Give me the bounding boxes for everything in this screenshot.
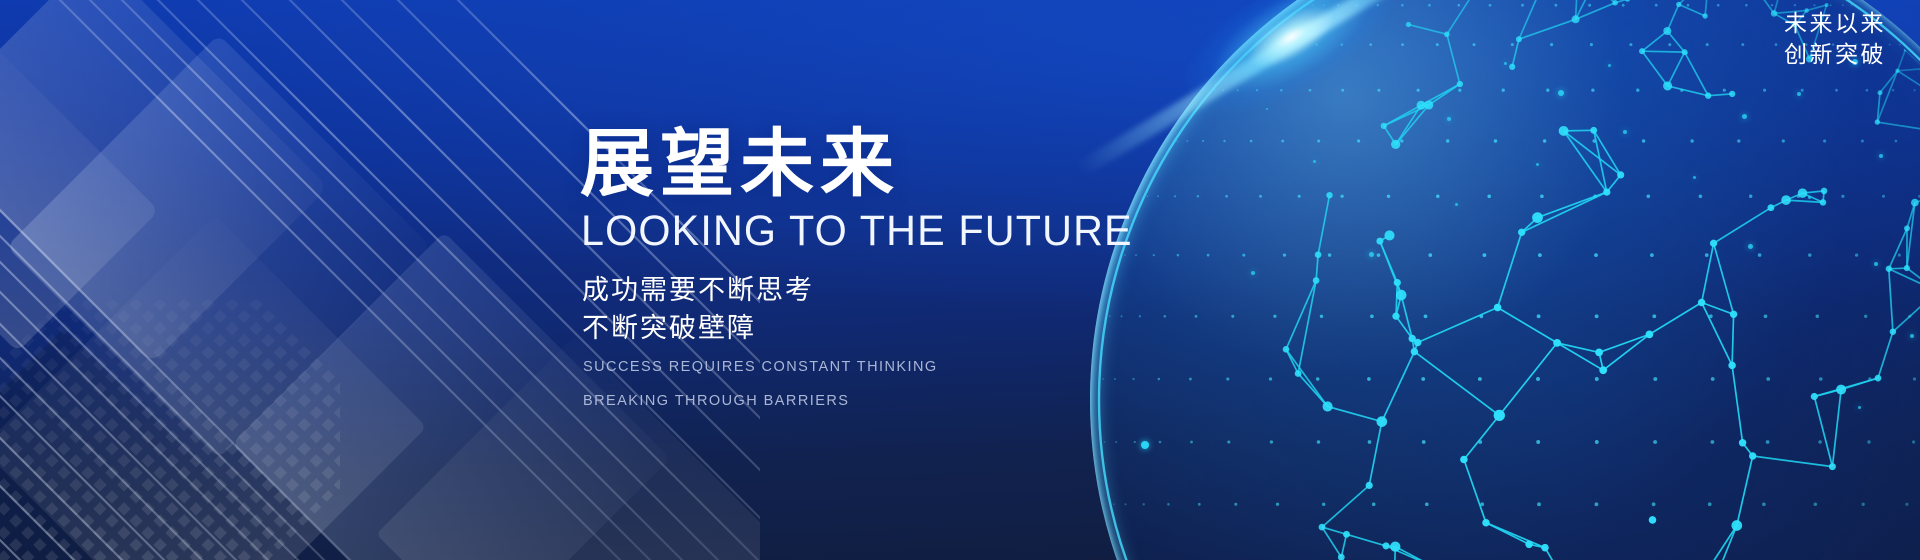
corner-slogan: 未来以来 创新突破	[1784, 8, 1886, 71]
page-title-cn: 展望未来	[580, 126, 1218, 203]
subtitle-cn-line2: 不断突破壁障	[582, 309, 1218, 347]
particle-dot	[1808, 196, 1811, 199]
subtitle-en-line1: SUCCESS REQUIRES CONSTANT THINKING	[583, 355, 1218, 381]
corner-slogan-line2: 创新突破	[1784, 39, 1886, 70]
particle-dot	[1447, 117, 1451, 121]
particle-dot	[1623, 130, 1627, 134]
particle-dot	[1455, 203, 1458, 206]
particle-dot	[1558, 90, 1564, 96]
hero-banner: 展望未来 LOOKING TO THE FUTURE 成功需要不断思考 不断突破…	[0, 0, 1920, 560]
particle-dot	[1369, 252, 1374, 257]
particle-dot	[1874, 262, 1878, 266]
particle-dot	[1858, 406, 1861, 409]
particle-dot	[1910, 334, 1914, 338]
particle-dot	[1141, 441, 1149, 449]
checkered-dot-grid	[0, 300, 340, 560]
subtitle-cn-line1: 成功需要不断思考	[582, 271, 1218, 309]
particle-dot	[1742, 114, 1747, 119]
particle-dot	[1504, 62, 1507, 65]
particle-dot	[1693, 176, 1696, 179]
particle-dot	[1266, 108, 1268, 110]
headline-block: 展望未来 LOOKING TO THE FUTURE 成功需要不断思考 不断突破…	[578, 126, 1218, 415]
particle-dot	[1608, 64, 1611, 67]
particle-dot	[1251, 271, 1255, 275]
particle-dot	[1879, 154, 1883, 158]
particle-dot	[1313, 160, 1316, 163]
particle-dot	[1686, 52, 1688, 54]
particle-dot	[1797, 92, 1801, 96]
corner-slogan-line1: 未来以来	[1784, 8, 1886, 39]
particle-dot	[1536, 163, 1539, 166]
page-title-en: LOOKING TO THE FUTURE	[581, 209, 1193, 255]
subtitle-en-line2: BREAKING THROUGH BARRIERS	[583, 389, 1218, 415]
particle-dot	[1748, 244, 1753, 249]
globe-rim-flare	[1167, 0, 1416, 139]
